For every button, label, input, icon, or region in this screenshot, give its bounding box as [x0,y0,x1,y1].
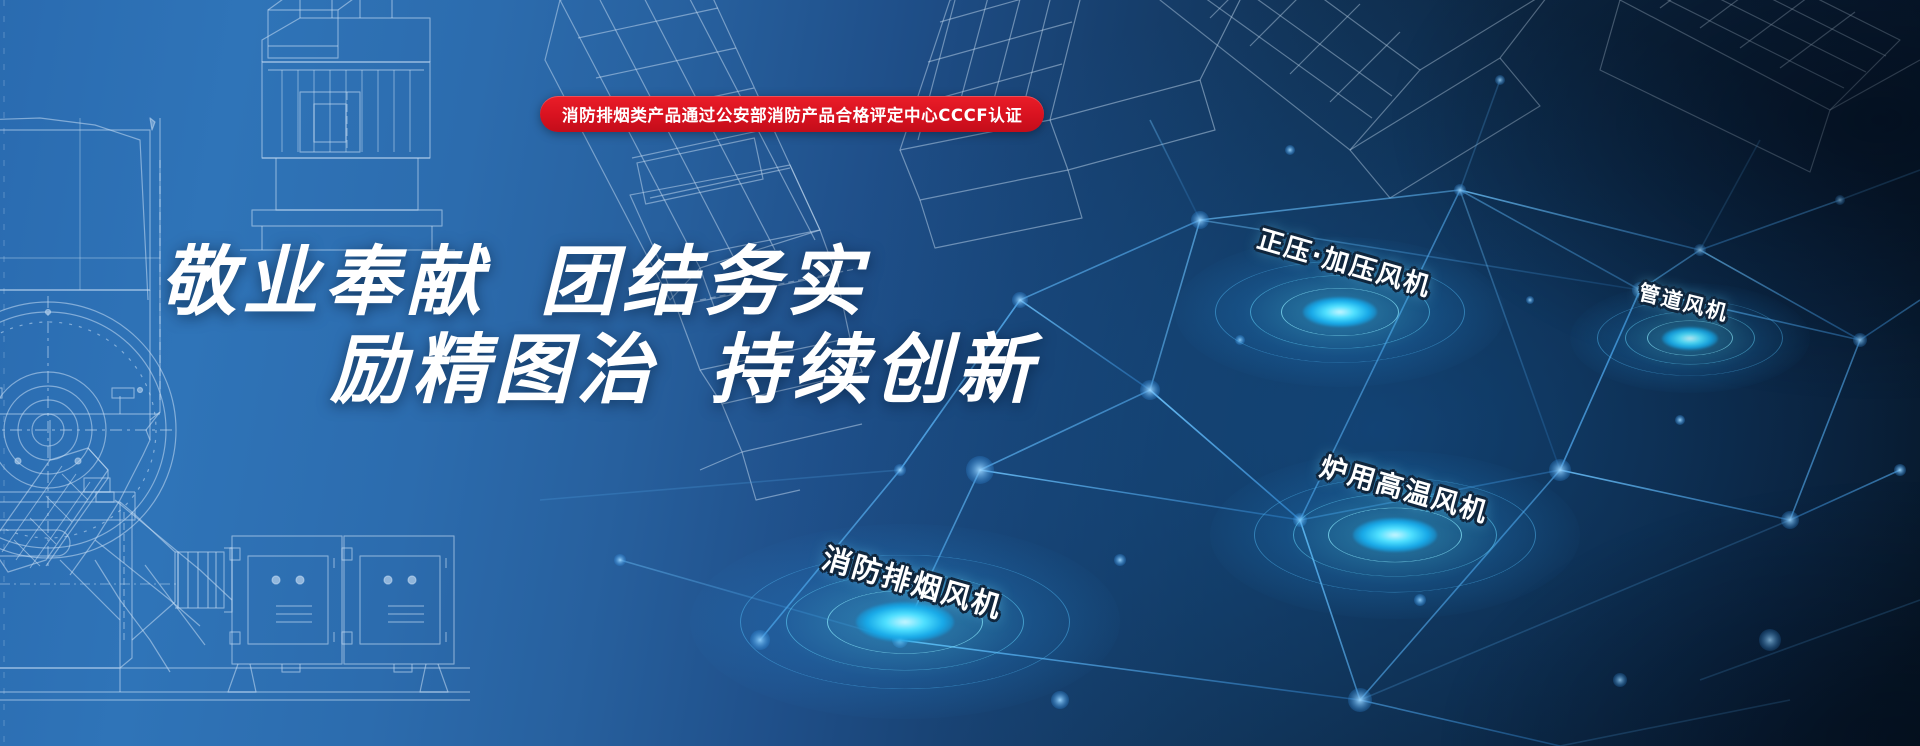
hub-halo [1210,451,1580,619]
slogan-line-2: 励精图治持续创新 [330,308,1038,418]
small-box-drawing [268,0,360,58]
certification-badge-text: 消防排烟类产品通过公安部消防产品合格评定中心CCCF认证 [562,102,1022,126]
slogan-phrase-3: 励精图治 [330,325,658,414]
certification-badge[interactable]: 消防排烟类产品通过公安部消防产品合格评定中心CCCF认证 [540,96,1044,132]
hub-ring-outer [1215,261,1465,363]
product-label-smoke-exhaust-fan: 消防排烟风机 [818,535,1008,627]
hub-core [1303,297,1377,327]
hub-ring-inner [1647,321,1733,356]
hub-ring-inner [1281,288,1399,336]
hub-core [1662,327,1718,350]
product-label-high-temperature-fan: 炉用高温风机 [1316,445,1494,530]
hub-ring-outer [740,555,1070,689]
slogan-phrase-4: 持续创新 [710,325,1038,414]
banner-root: 正压·加压风机 管道风机 炉用高温风机 消防排烟风机 敬业奉献团结务实 励精图治… [0,0,1920,746]
slanted-frame-drawing [1160,0,1570,198]
slogan-phrase-2: 团结务实 [540,237,868,326]
hub-halo [690,524,1120,719]
air-handling-unit-drawing [0,388,470,700]
hub-core [1353,518,1437,552]
centrifugal-fan-drawing [0,118,232,672]
product-label-pressurization-fan: 正压·加压风机 [1253,219,1436,304]
roof-fan-drawing [240,0,455,250]
hub-halo [1175,237,1505,387]
hub-ring-mid [1293,494,1497,577]
tilted-duct-drawing [545,0,862,500]
hub-ring-outer [1597,300,1783,376]
slogan-line-1: 敬业奉献团结务实 [160,220,868,330]
hub-ring-outer [1254,478,1536,593]
hub-ring-mid [786,574,1024,671]
hub-ring-inner [827,590,983,653]
hub-halo [1570,283,1810,393]
hub-ring-mid [1625,312,1755,365]
hub-ring-inner [1328,508,1462,563]
grid-panel-drawing [1600,0,1920,172]
hub-ring-mid [1250,275,1430,348]
slogan-phrase-1: 敬业奉献 [160,237,488,326]
product-label-duct-fan: 管道风机 [1636,276,1733,327]
hub-core [856,602,954,642]
